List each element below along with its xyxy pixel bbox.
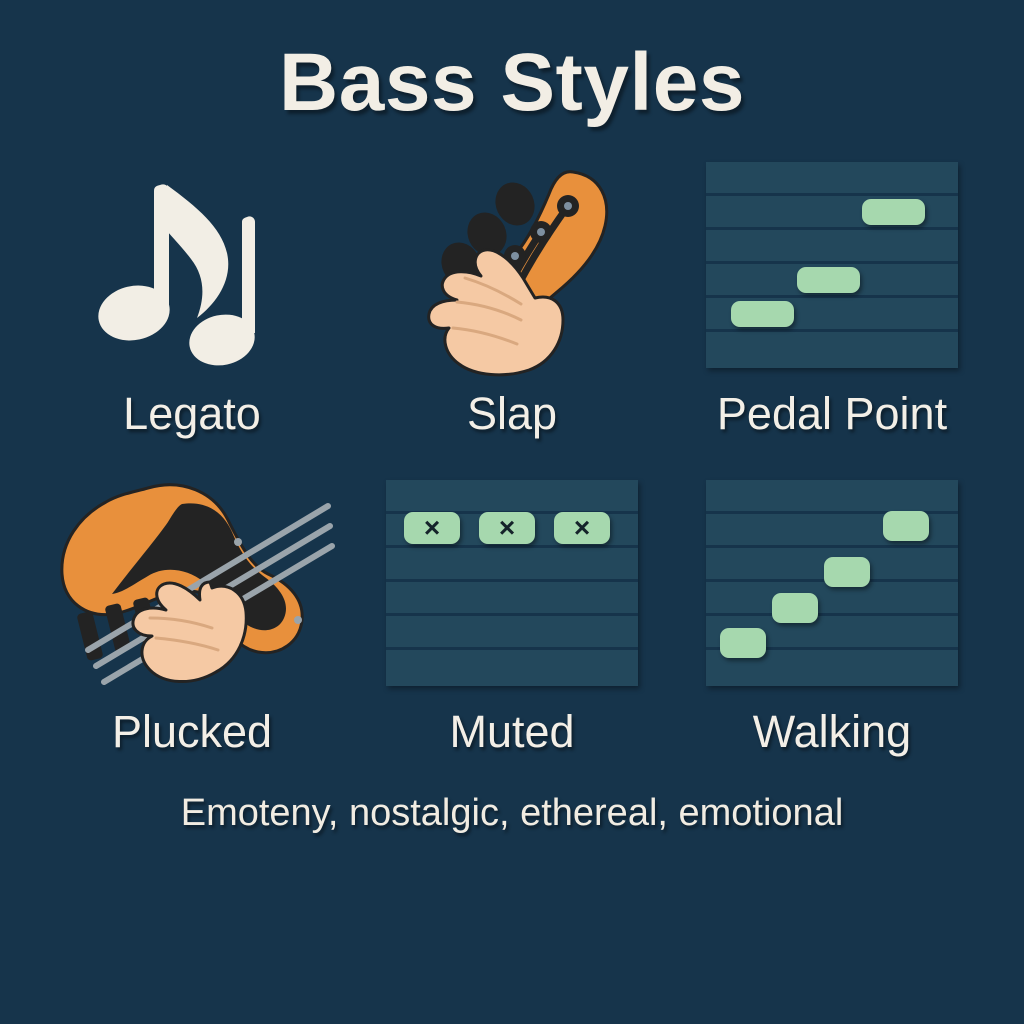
- bass-guitar-plucking-hand-icon: [37, 470, 347, 695]
- grid-line: [706, 545, 958, 548]
- note-block[interactable]: [883, 511, 929, 541]
- grid-line: [386, 647, 638, 650]
- style-label: Slap: [467, 391, 557, 436]
- style-card-walking[interactable]: Walking: [677, 470, 987, 780]
- grid-line: [386, 579, 638, 582]
- grid-line: [706, 329, 958, 332]
- grid-line: [386, 545, 638, 548]
- note-block[interactable]: [824, 557, 870, 587]
- grid-line: [706, 295, 958, 298]
- style-card-pedal-point[interactable]: Pedal Point: [677, 152, 987, 462]
- grid-line: [706, 227, 958, 230]
- muted-notes-grid-icon: × × ×: [357, 470, 667, 695]
- style-card-slap[interactable]: Slap: [357, 152, 667, 462]
- note-block[interactable]: [772, 593, 818, 623]
- style-card-plucked[interactable]: Plucked: [37, 470, 347, 780]
- note-block[interactable]: [797, 267, 860, 293]
- style-label: Legato: [123, 391, 261, 436]
- style-card-muted[interactable]: × × × Muted: [357, 470, 667, 780]
- mute-x-icon: ×: [424, 514, 440, 542]
- style-label: Muted: [449, 709, 574, 754]
- mute-x-icon: ×: [574, 514, 590, 542]
- walking-bassline-grid-icon: [677, 470, 987, 695]
- style-label: Pedal Point: [717, 391, 947, 436]
- note-block[interactable]: [862, 199, 925, 225]
- styles-grid: Legato: [37, 152, 987, 780]
- grid-line: [386, 613, 638, 616]
- grid-line: [706, 193, 958, 196]
- mood-caption: Emoteny, nostalgic, ethereal, emotional: [181, 792, 844, 835]
- style-card-legato[interactable]: Legato: [37, 152, 347, 462]
- note-block[interactable]: [720, 628, 766, 658]
- walking-grid: [706, 480, 958, 686]
- pedal-point-grid: [706, 162, 958, 368]
- grid-line: [706, 261, 958, 264]
- style-label: Walking: [753, 709, 911, 754]
- grid-line: [706, 613, 958, 616]
- mute-x-icon: ×: [499, 514, 515, 542]
- style-label: Plucked: [112, 709, 272, 754]
- muted-grid: × × ×: [386, 480, 638, 686]
- piano-roll-grid-icon: [677, 152, 987, 377]
- page-title: Bass Styles: [279, 42, 745, 124]
- music-notes-icon: [37, 152, 347, 377]
- note-block-muted[interactable]: ×: [404, 512, 460, 544]
- bass-headstock-slapping-hand-icon: [357, 152, 667, 377]
- bass-styles-poster: Bass Styles: [0, 0, 1024, 1024]
- note-block[interactable]: [731, 301, 794, 327]
- note-block-muted[interactable]: ×: [554, 512, 610, 544]
- note-block-muted[interactable]: ×: [479, 512, 535, 544]
